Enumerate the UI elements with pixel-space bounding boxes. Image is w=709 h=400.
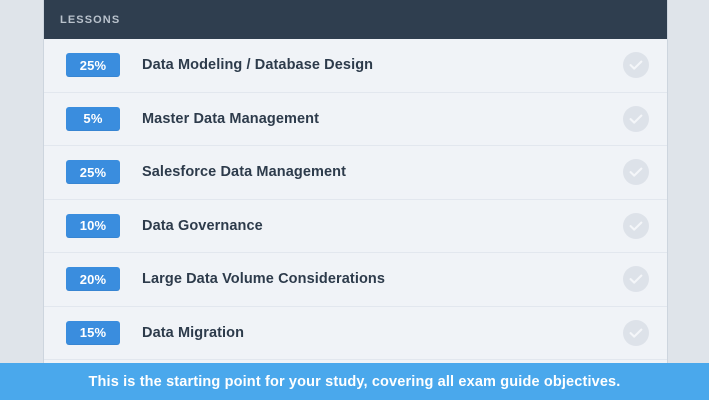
lesson-row[interactable]: 25% Data Modeling / Database Design: [44, 39, 667, 93]
lesson-row[interactable]: 15% Data Migration: [44, 307, 667, 361]
lesson-row[interactable]: 10% Data Governance: [44, 200, 667, 254]
lessons-list: 25% Data Modeling / Database Design 5% M…: [44, 39, 667, 360]
lesson-title: Salesforce Data Management: [142, 164, 346, 180]
lesson-percent-badge: 20%: [66, 267, 120, 291]
lesson-row[interactable]: 20% Large Data Volume Considerations: [44, 253, 667, 307]
screen-root: LESSONS 25% Data Modeling / Database Des…: [0, 0, 709, 400]
lesson-percent-badge: 25%: [66, 160, 120, 184]
info-banner-text: This is the starting point for your stud…: [89, 374, 621, 390]
lesson-title: Data Modeling / Database Design: [142, 57, 373, 73]
check-circle-icon[interactable]: [623, 266, 649, 292]
lesson-row[interactable]: 25% Salesforce Data Management: [44, 146, 667, 200]
lessons-header-title: LESSONS: [60, 14, 120, 26]
check-circle-icon[interactable]: [623, 106, 649, 132]
check-circle-icon[interactable]: [623, 320, 649, 346]
lesson-title: Master Data Management: [142, 111, 319, 127]
lesson-percent-badge: 10%: [66, 214, 120, 238]
check-circle-icon[interactable]: [623, 159, 649, 185]
lesson-percent-badge: 25%: [66, 53, 120, 77]
check-circle-icon[interactable]: [623, 213, 649, 239]
check-circle-icon[interactable]: [623, 52, 649, 78]
info-banner: This is the starting point for your stud…: [0, 363, 709, 400]
lesson-percent-badge: 5%: [66, 107, 120, 131]
lesson-percent-badge: 15%: [66, 321, 120, 345]
lessons-card: LESSONS 25% Data Modeling / Database Des…: [44, 0, 667, 400]
lesson-title: Data Governance: [142, 218, 263, 234]
lesson-row[interactable]: 5% Master Data Management: [44, 93, 667, 147]
lesson-title: Data Migration: [142, 325, 244, 341]
lesson-title: Large Data Volume Considerations: [142, 271, 385, 287]
lessons-card-header: LESSONS: [44, 0, 667, 39]
